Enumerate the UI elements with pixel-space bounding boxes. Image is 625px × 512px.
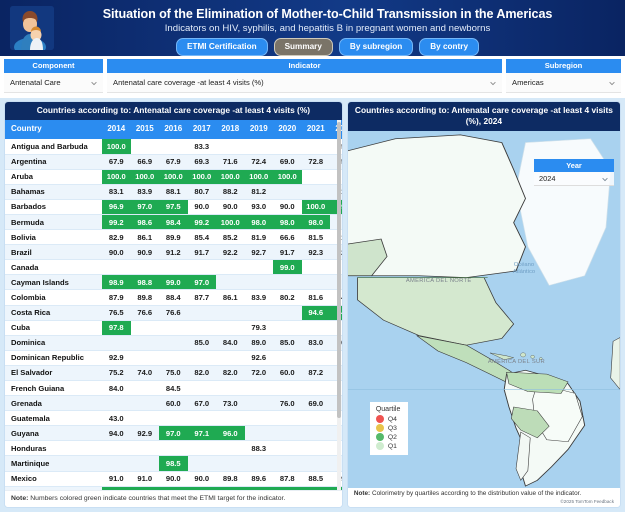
- table-cell-2020: [273, 320, 302, 335]
- table-cell-2014: 87.9: [102, 290, 131, 305]
- map-note-text: Colorimetry by quartiles according to th…: [370, 490, 581, 497]
- filter-indicator-select[interactable]: Antenatal care coverage -at least 4 visi…: [107, 73, 502, 93]
- table-cell-2015: [131, 335, 160, 350]
- table-cell-2015: 100.0: [131, 486, 160, 490]
- table-cell-2019: [245, 275, 274, 290]
- table-cell-2014: 82.9: [102, 230, 131, 245]
- table-cell-2014: [102, 335, 131, 350]
- table-scroll-region[interactable]: Country201420152016201720182019202020212…: [5, 120, 342, 490]
- map-note: Note: Colorimetry by quartiles according…: [348, 488, 620, 499]
- table-cell-2015: 66.9: [131, 154, 160, 169]
- tab-by-country[interactable]: By contry: [419, 38, 479, 56]
- table-cell-country: Guyana: [5, 426, 102, 441]
- legend-item-q1: Q1: [376, 442, 401, 450]
- table-panel-title: Countries according to: Antenatal care c…: [5, 102, 342, 120]
- table-row[interactable]: Montserrat100.0100.0100.0100.0100.0100.0…: [5, 486, 342, 490]
- table-cell-2020: [273, 441, 302, 456]
- table-cell-2017: [188, 381, 217, 396]
- filter-indicator-header: Indicator: [107, 59, 502, 73]
- table-cell-2021: [302, 426, 331, 441]
- table-cell-2016: 97.0: [159, 426, 188, 441]
- table-cell-country: Grenada: [5, 396, 102, 411]
- map-panel: Countries according to: Antenatal care c…: [347, 101, 621, 508]
- legend-swatch-q4: [376, 415, 384, 423]
- table-cell-2020: [273, 456, 302, 471]
- table-cell-2020: 91.7: [273, 245, 302, 260]
- table-cell-2018: 92.2: [216, 245, 245, 260]
- table-cell-2018: 96.0: [216, 426, 245, 441]
- table-panel: Countries according to: Antenatal care c…: [4, 101, 343, 508]
- legend-item-q3: Q3: [376, 424, 401, 432]
- table-cell-2015: 98.6: [131, 214, 160, 229]
- table-cell-2015: [131, 350, 160, 365]
- table-head: Country201420152016201720182019202020212…: [5, 120, 342, 139]
- table-cell-2015: 83.9: [131, 184, 160, 199]
- table-cell-2020: 100.0: [273, 169, 302, 184]
- table-cell-2015: 92.9: [131, 426, 160, 441]
- table-cell-country: Mexico: [5, 471, 102, 486]
- table-cell-2021: [302, 381, 331, 396]
- table-cell-2018: [216, 275, 245, 290]
- table-cell-2019: [245, 305, 274, 320]
- table-cell-2021: 94.6: [302, 305, 331, 320]
- table-row[interactable]: Cayman Islands98.998.899.097.0: [5, 275, 342, 290]
- table-cell-2019: [245, 411, 274, 426]
- table-row[interactable]: Canada99.0: [5, 260, 342, 275]
- table-cell-2017: 100.0: [188, 486, 217, 490]
- table-cell-2015: [131, 396, 160, 411]
- table-row[interactable]: Aruba100.0100.0100.0100.0100.0100.0100.0: [5, 169, 342, 184]
- table-cell-2021: [302, 139, 331, 154]
- content-panels: Countries according to: Antenatal care c…: [0, 98, 625, 512]
- filter-indicator-value: Antenatal care coverage -at least 4 visi…: [113, 78, 264, 87]
- table-cell-2020: [273, 411, 302, 426]
- table-cell-2014: [102, 396, 131, 411]
- table-row[interactable]: El Salvador75.274.075.082.082.072.060.08…: [5, 365, 342, 380]
- table-cell-2020: 76.0: [273, 396, 302, 411]
- filter-component: Component Antenatal Care: [4, 59, 103, 93]
- table-cell-2018: 100.0: [216, 486, 245, 490]
- table-cell-2016: 88.1: [159, 184, 188, 199]
- table-note: Note: Numbers colored green indicate cou…: [5, 490, 342, 507]
- table-cell-2017: 97.1: [188, 426, 217, 441]
- table-cell-2014: 67.9: [102, 154, 131, 169]
- table-header-2018: 2018: [216, 120, 245, 139]
- table-cell-2016: 98.5: [159, 456, 188, 471]
- table-cell-2015: [131, 381, 160, 396]
- table-cell-2017: 90.0: [188, 471, 217, 486]
- table-scrollbar-thumb[interactable]: [337, 122, 341, 418]
- table-cell-2021: [302, 275, 331, 290]
- table-header-2019: 2019: [245, 120, 274, 139]
- table-cell-2017: 99.2: [188, 214, 217, 229]
- table-cell-2018: [216, 260, 245, 275]
- table-cell-2014: 90.0: [102, 245, 131, 260]
- table-cell-2014: [102, 260, 131, 275]
- table-cell-2016: 97.5: [159, 199, 188, 214]
- table-cell-2017: 87.7: [188, 290, 217, 305]
- table-cell-2018: 100.0: [216, 214, 245, 229]
- table-cell-country: Brazil: [5, 245, 102, 260]
- table-cell-2018: 71.6: [216, 154, 245, 169]
- table-cell-2016: [159, 411, 188, 426]
- legend-swatch-q1: [376, 442, 384, 450]
- table-cell-2020: [273, 305, 302, 320]
- table-note-label: Note:: [11, 495, 28, 502]
- table-cell-2014: 96.9: [102, 199, 131, 214]
- table-cell-2016: [159, 260, 188, 275]
- table-cell-2021: 83.0: [302, 335, 331, 350]
- table-cell-country: Bolivia: [5, 230, 102, 245]
- table-cell-2020: [273, 275, 302, 290]
- table-cell-2018: 84.0: [216, 335, 245, 350]
- table-cell-2020: [273, 184, 302, 199]
- table-row[interactable]: Honduras88.3: [5, 441, 342, 456]
- table-cell-2014: 91.0: [102, 471, 131, 486]
- table-cell-2018: [216, 381, 245, 396]
- table-cell-2014: 94.0: [102, 426, 131, 441]
- table-cell-2017: 67.0: [188, 396, 217, 411]
- table-cell-2017: 82.0: [188, 365, 217, 380]
- table-cell-2015: [131, 441, 160, 456]
- table-cell-2018: 89.8: [216, 471, 245, 486]
- filter-subregion: Subregion Americas: [506, 59, 621, 93]
- table-header-2020: 2020: [273, 120, 302, 139]
- table-cell-2018: [216, 139, 245, 154]
- table-cell-2018: 85.2: [216, 230, 245, 245]
- table-cell-2019: [245, 396, 274, 411]
- year-value: 2024: [539, 174, 555, 183]
- legend-label-q1: Q1: [388, 443, 397, 450]
- table-row[interactable]: Mexico91.091.090.090.089.889.687.888.589…: [5, 471, 342, 486]
- table-cell-2020: [273, 426, 302, 441]
- table-cell-country: Aruba: [5, 169, 102, 184]
- table-row[interactable]: Bahamas83.183.988.180.788.281.291.9: [5, 184, 342, 199]
- table-cell-2016: 76.6: [159, 305, 188, 320]
- table-cell-2021: 81.6: [302, 290, 331, 305]
- table-row[interactable]: Dominican Republic92.992.6: [5, 350, 342, 365]
- table-cell-2017: 85.4: [188, 230, 217, 245]
- chevron-down-icon: [90, 79, 98, 87]
- table-cell-2014: 84.0: [102, 381, 131, 396]
- table-cell-2020: [273, 139, 302, 154]
- table-cell-2015: 89.8: [131, 290, 160, 305]
- table-cell-2020: 90.0: [273, 199, 302, 214]
- table-cell-2021: [302, 456, 331, 471]
- table-cell-country: Costa Rica: [5, 305, 102, 320]
- table-header-2015: 2015: [131, 120, 160, 139]
- table-header-2016: 2016: [159, 120, 188, 139]
- table-cell-2014: [102, 441, 131, 456]
- table-cell-2019: 83.9: [245, 290, 274, 305]
- table-cell-2017: 100.0: [188, 169, 217, 184]
- table-row[interactable]: Guyana94.092.997.097.196.0: [5, 426, 342, 441]
- table-cell-2018: [216, 441, 245, 456]
- year-filter-header: Year: [534, 159, 614, 172]
- filter-component-header: Component: [4, 59, 103, 73]
- table-cell-2017: [188, 260, 217, 275]
- table-cell-2021: [302, 184, 331, 199]
- legend-swatch-q2: [376, 433, 384, 441]
- table-cell-2017: [188, 350, 217, 365]
- table-row[interactable]: Guatemala43.0: [5, 411, 342, 426]
- table-cell-2018: 100.0: [216, 169, 245, 184]
- table-header-country: Country: [5, 120, 102, 139]
- table-cell-2016: [159, 441, 188, 456]
- indicator-table: Country201420152016201720182019202020212…: [5, 120, 342, 490]
- table-header-2021: 2021: [302, 120, 331, 139]
- table-row[interactable]: Antigua and Barbuda100.083.375.0: [5, 139, 342, 154]
- table-cell-2018: [216, 320, 245, 335]
- table-cell-2019: 79.3: [245, 320, 274, 335]
- table-cell-2021: 87.2: [302, 365, 331, 380]
- table-cell-2021: 100.0: [302, 486, 331, 490]
- table-cell-2015: 98.8: [131, 275, 160, 290]
- table-cell-country: El Salvador: [5, 365, 102, 380]
- table-header-row: Country201420152016201720182019202020212…: [5, 120, 342, 139]
- table-cell-country: Argentina: [5, 154, 102, 169]
- table-cell-2021: [302, 169, 331, 184]
- table-cell-2016: [159, 335, 188, 350]
- legend-label-q3: Q3: [388, 425, 397, 432]
- table-cell-2014: [102, 456, 131, 471]
- app-header: Situation of the Elimination of Mother-t…: [0, 0, 625, 56]
- table-cell-country: Guatemala: [5, 411, 102, 426]
- table-row[interactable]: Bermuda99.298.698.499.2100.098.098.098.0: [5, 214, 342, 229]
- table-cell-2021: [302, 411, 331, 426]
- table-cell-2021: 69.0: [302, 396, 331, 411]
- chevron-down-icon: [608, 79, 616, 87]
- table-cell-2017: 91.7: [188, 245, 217, 260]
- table-cell-2014: 100.0: [102, 486, 131, 490]
- table-cell-2019: 100.0: [245, 169, 274, 184]
- table-cell-2015: 76.6: [131, 305, 160, 320]
- table-cell-2021: 98.0: [302, 214, 331, 229]
- table-cell-2019: 72.0: [245, 365, 274, 380]
- tab-by-subregion[interactable]: By subregion: [339, 38, 413, 56]
- map-legend: Quartile Q4 Q3 Q2 Q1: [370, 402, 409, 455]
- table-note-text: Numbers colored green indicate countries…: [28, 495, 285, 502]
- table-cell-2020: 85.0: [273, 335, 302, 350]
- table-cell-2016: 100.0: [159, 169, 188, 184]
- table-cell-2014: 75.2: [102, 365, 131, 380]
- table-cell-2014: 92.9: [102, 350, 131, 365]
- tab-summary[interactable]: Summary: [274, 38, 333, 56]
- table-cell-2017: 97.0: [188, 275, 217, 290]
- table-cell-2014: 100.0: [102, 139, 131, 154]
- table-cell-2014: 99.2: [102, 214, 131, 229]
- table-cell-2018: 73.0: [216, 396, 245, 411]
- table-cell-2019: 72.4: [245, 154, 274, 169]
- table-cell-2019: 92.6: [245, 350, 274, 365]
- table-cell-2021: 100.0: [302, 199, 331, 214]
- table-cell-2016: 91.2: [159, 245, 188, 260]
- filter-component-value: Antenatal Care: [10, 78, 61, 87]
- table-cell-country: French Guiana: [5, 381, 102, 396]
- table-cell-country: Bermuda: [5, 214, 102, 229]
- table-cell-2016: 67.9: [159, 154, 188, 169]
- table-row[interactable]: French Guiana84.084.5: [5, 381, 342, 396]
- map-credit: ©2025 TomTom Feedback: [348, 499, 620, 507]
- table-cell-country: Bahamas: [5, 184, 102, 199]
- table-cell-2019: [245, 381, 274, 396]
- table-cell-2019: 98.0: [245, 214, 274, 229]
- table-cell-2021: 88.5: [302, 471, 331, 486]
- table-cell-2018: [216, 456, 245, 471]
- filter-subregion-value: Americas: [512, 78, 544, 87]
- table-cell-2019: [245, 260, 274, 275]
- table-cell-country: Martinique: [5, 456, 102, 471]
- table-cell-2015: 91.0: [131, 471, 160, 486]
- chevron-down-icon: [601, 175, 609, 183]
- table-row[interactable]: Brazil90.090.991.291.792.292.791.792.392…: [5, 245, 342, 260]
- table-row[interactable]: Dominica85.084.089.085.083.090.085.0: [5, 335, 342, 350]
- table-cell-2021: 72.8: [302, 154, 331, 169]
- table-cell-country: Colombia: [5, 290, 102, 305]
- table-cell-2016: 84.5: [159, 381, 188, 396]
- table-cell-2019: [245, 139, 274, 154]
- filter-subregion-select[interactable]: Americas: [506, 73, 621, 93]
- table-cell-2019: 100.0: [245, 486, 274, 490]
- table-cell-2017: 90.0: [188, 199, 217, 214]
- table-row[interactable]: Grenada60.067.073.076.069.054.9: [5, 396, 342, 411]
- table-cell-2014: 43.0: [102, 411, 131, 426]
- table-cell-2016: 60.0: [159, 396, 188, 411]
- table-cell-2016: 90.0: [159, 471, 188, 486]
- table-cell-2020: 69.0: [273, 154, 302, 169]
- table-cell-2016: [159, 320, 188, 335]
- table-cell-country: Cayman Islands: [5, 275, 102, 290]
- table-cell-2017: [188, 305, 217, 320]
- table-cell-2015: [131, 139, 160, 154]
- table-cell-2015: [131, 456, 160, 471]
- table-cell-country: Canada: [5, 260, 102, 275]
- filter-bar: Component Antenatal Care Indicator Anten…: [0, 56, 625, 98]
- table-cell-country: Dominica: [5, 335, 102, 350]
- table-cell-2020: [273, 350, 302, 365]
- table-cell-2015: 90.9: [131, 245, 160, 260]
- table-cell-2019: 88.3: [245, 441, 274, 456]
- table-cell-2020: 100.0: [273, 486, 302, 490]
- filter-component-select[interactable]: Antenatal Care: [4, 73, 103, 93]
- table-scrollbar[interactable]: [337, 120, 341, 490]
- table-row[interactable]: Barbados96.997.097.590.090.093.090.0100.…: [5, 199, 342, 214]
- page-subtitle: Indicators on HIV, syphilis, and hepatit…: [60, 22, 595, 35]
- table-cell-2018: 90.0: [216, 199, 245, 214]
- table-cell-2016: 89.9: [159, 230, 188, 245]
- table-cell-2019: 92.7: [245, 245, 274, 260]
- table-cell-country: Cuba: [5, 320, 102, 335]
- table-cell-2017: [188, 441, 217, 456]
- legend-title: Quartile: [376, 406, 401, 413]
- table-cell-2014: 98.9: [102, 275, 131, 290]
- table-cell-2018: 82.0: [216, 365, 245, 380]
- table-cell-2018: 88.2: [216, 184, 245, 199]
- table-cell-2019: [245, 426, 274, 441]
- table-row[interactable]: Martinique98.5: [5, 456, 342, 471]
- table-cell-2021: 81.5: [302, 230, 331, 245]
- header-text-block: Situation of the Elimination of Mother-t…: [60, 3, 625, 56]
- table-cell-2021: [302, 441, 331, 456]
- table-cell-2016: 99.0: [159, 275, 188, 290]
- table-row[interactable]: Colombia87.989.888.487.786.183.980.281.6…: [5, 290, 342, 305]
- legend-item-q2: Q2: [376, 433, 401, 441]
- legend-label-q4: Q4: [388, 416, 397, 423]
- page-title: Situation of the Elimination of Mother-t…: [60, 3, 595, 22]
- table-cell-2016: [159, 139, 188, 154]
- table-cell-2015: [131, 260, 160, 275]
- table-cell-2021: [302, 260, 331, 275]
- table-row[interactable]: Costa Rica76.576.676.694.694.1: [5, 305, 342, 320]
- table-cell-2015: 74.0: [131, 365, 160, 380]
- year-select[interactable]: 2024: [534, 172, 614, 186]
- table-cell-2015: 86.1: [131, 230, 160, 245]
- table-cell-country: Antigua and Barbuda: [5, 139, 102, 154]
- table-cell-2021: 92.3: [302, 245, 331, 260]
- table-cell-2014: 100.0: [102, 169, 131, 184]
- legend-label-q2: Q2: [388, 434, 397, 441]
- table-cell-2020: 87.8: [273, 471, 302, 486]
- table-cell-2018: 86.1: [216, 290, 245, 305]
- legend-item-q4: Q4: [376, 415, 401, 423]
- table-cell-country: Honduras: [5, 441, 102, 456]
- table-cell-2016: 75.0: [159, 365, 188, 380]
- table-cell-2015: [131, 411, 160, 426]
- table-cell-2017: [188, 320, 217, 335]
- table-row[interactable]: Bolivia82.986.189.985.485.281.966.681.58…: [5, 230, 342, 245]
- table-cell-2016: 98.4: [159, 214, 188, 229]
- tab-etmi-certification[interactable]: ETMI Certification: [176, 38, 268, 56]
- table-cell-2015: 100.0: [131, 169, 160, 184]
- table-cell-2019: [245, 456, 274, 471]
- table-cell-2019: 81.2: [245, 184, 274, 199]
- table-cell-2019: 93.0: [245, 199, 274, 214]
- table-cell-country: Montserrat: [5, 486, 102, 490]
- table-row[interactable]: Cuba97.879.3: [5, 320, 342, 335]
- legend-swatch-q3: [376, 424, 384, 432]
- table-cell-2017: [188, 456, 217, 471]
- map-note-label: Note:: [354, 490, 370, 497]
- table-cell-2017: [188, 411, 217, 426]
- table-body: Antigua and Barbuda100.083.375.0Argentin…: [5, 139, 342, 490]
- table-cell-2014: 83.1: [102, 184, 131, 199]
- table-cell-2021: [302, 320, 331, 335]
- table-header-2017: 2017: [188, 120, 217, 139]
- table-header-2014: 2014: [102, 120, 131, 139]
- table-row[interactable]: Argentina67.966.967.969.371.672.469.072.…: [5, 154, 342, 169]
- table-cell-2019: 81.9: [245, 230, 274, 245]
- table-cell-2017: 83.3: [188, 139, 217, 154]
- table-cell-2018: [216, 305, 245, 320]
- table-cell-2018: [216, 411, 245, 426]
- table-cell-2020: 80.2: [273, 290, 302, 305]
- table-cell-2017: 85.0: [188, 335, 217, 350]
- table-cell-country: Barbados: [5, 199, 102, 214]
- table-cell-2021: [302, 350, 331, 365]
- table-cell-2020: [273, 381, 302, 396]
- chevron-down-icon: [489, 79, 497, 87]
- nav-tabs: ETMI Certification Summary By subregion …: [60, 38, 595, 56]
- mother-and-baby-logo: [10, 6, 54, 50]
- table-cell-2017: 80.7: [188, 184, 217, 199]
- table-cell-country: Dominican Republic: [5, 350, 102, 365]
- table-cell-2019: 89.6: [245, 471, 274, 486]
- year-filter: Year 2024: [534, 159, 614, 186]
- map-panel-title: Countries according to: Antenatal care c…: [348, 102, 620, 131]
- filter-subregion-header: Subregion: [506, 59, 621, 73]
- map-canvas[interactable]: AMÉRICA DEL NORTE AMÉRICA DEL SUR Océano…: [348, 131, 620, 488]
- table-cell-2018: [216, 350, 245, 365]
